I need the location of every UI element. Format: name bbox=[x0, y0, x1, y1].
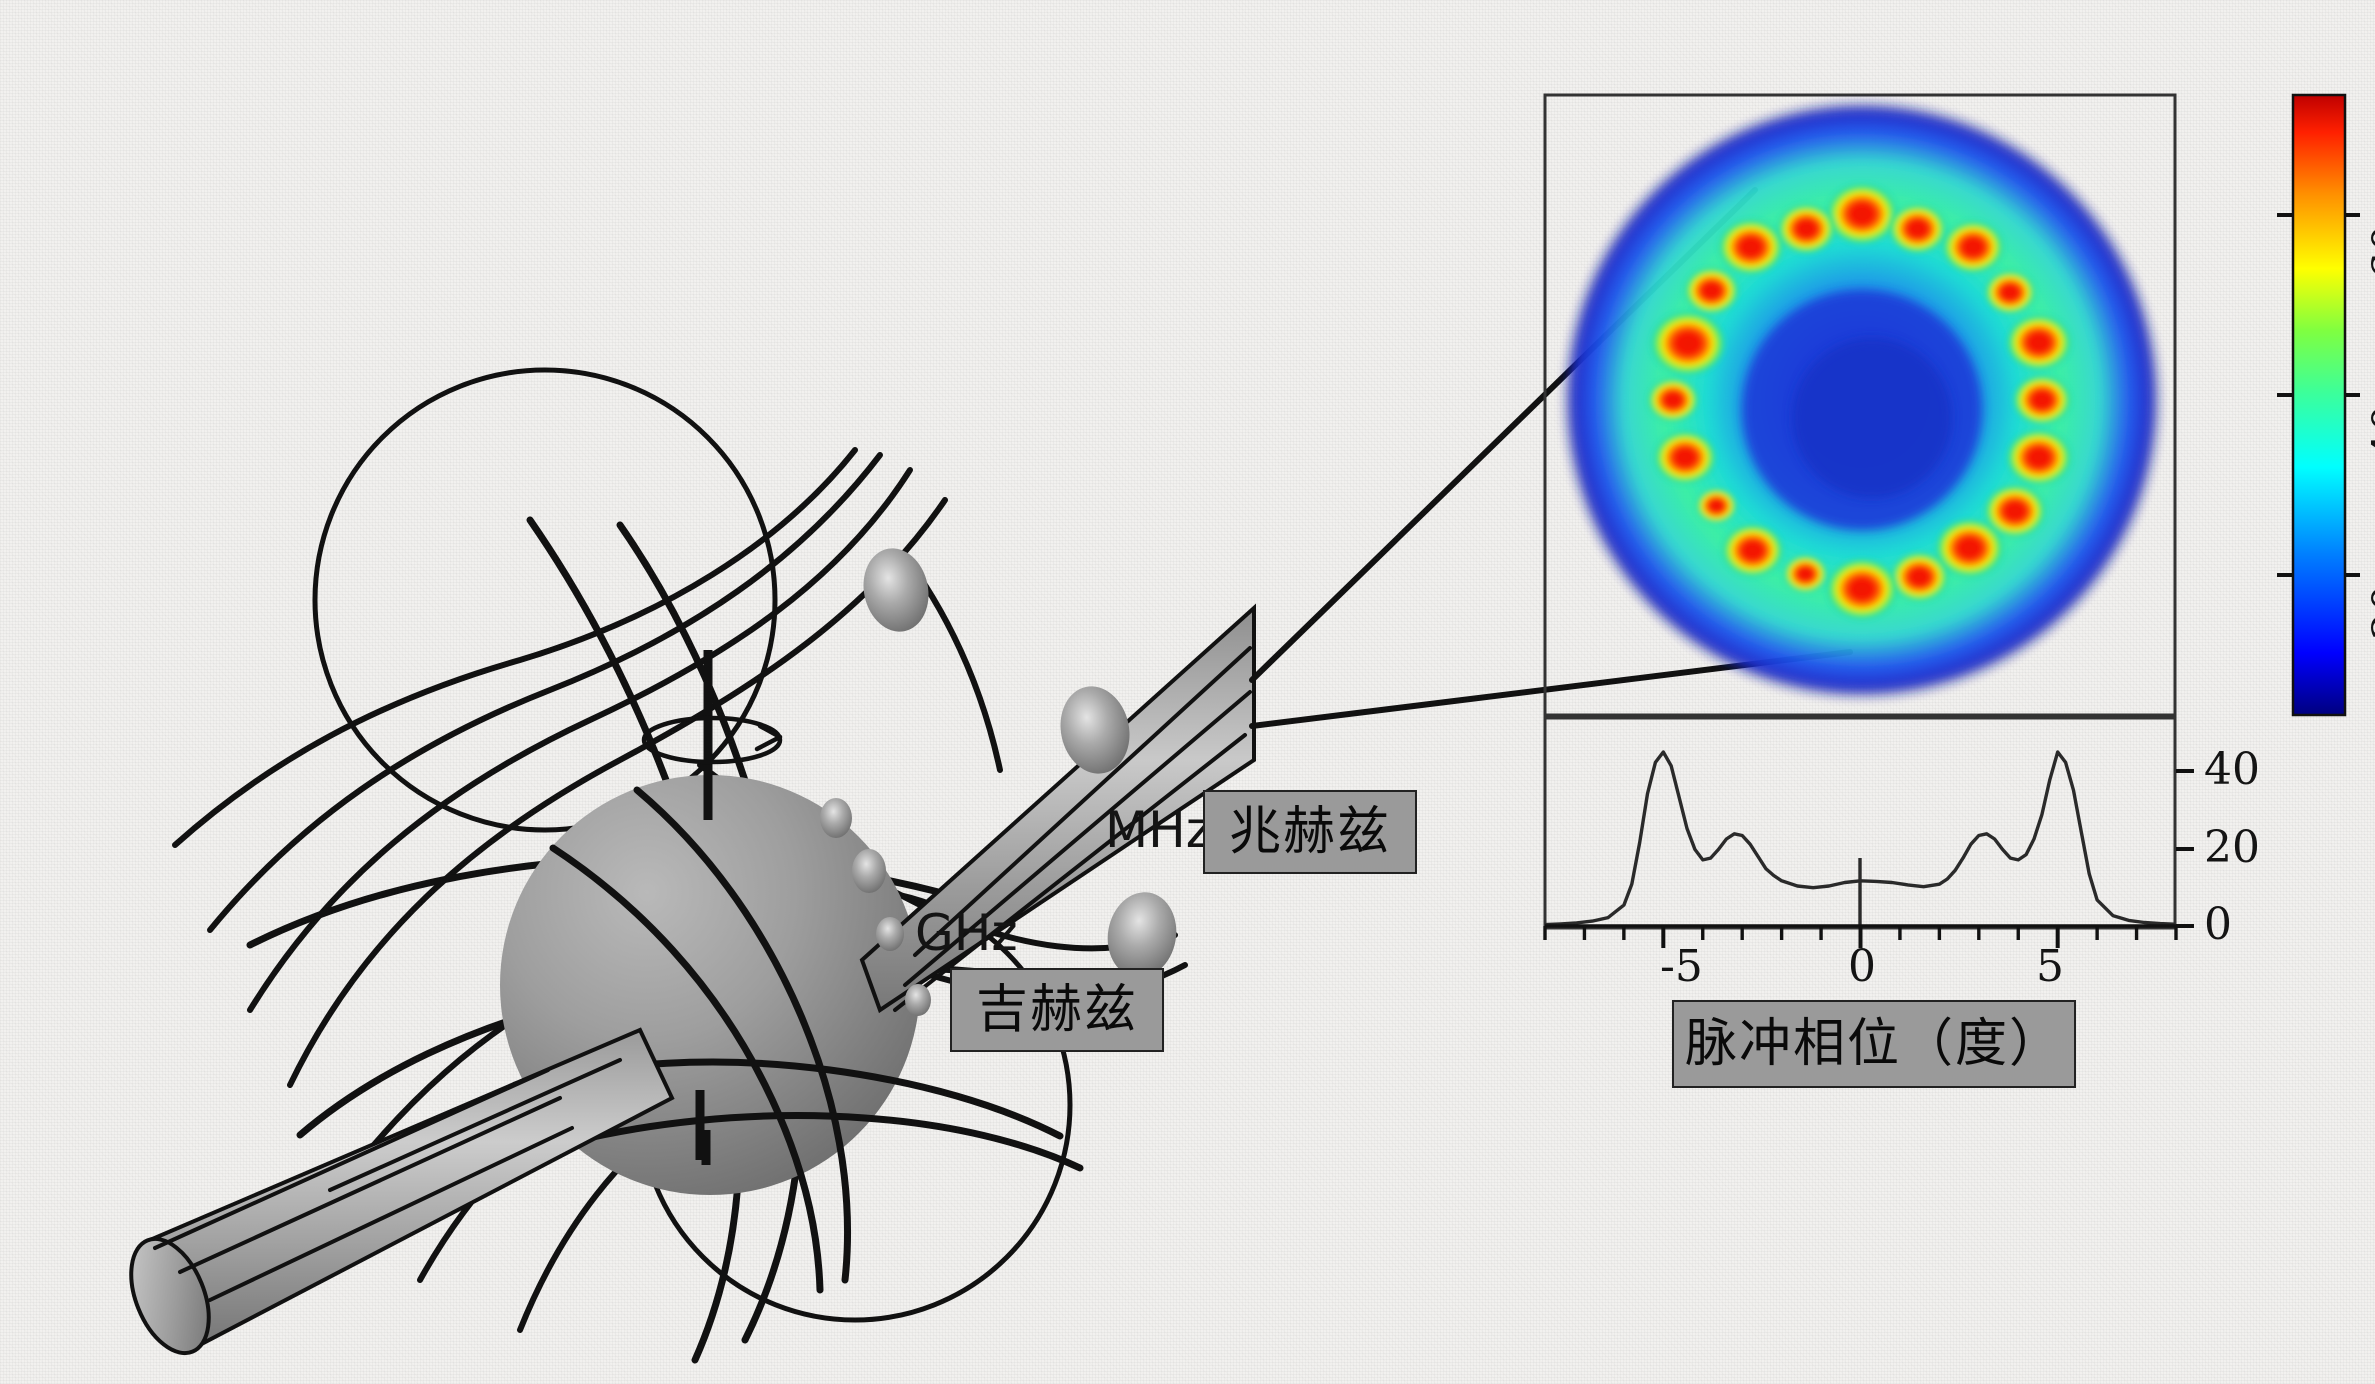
subbeam bbox=[1933, 517, 2005, 579]
colorbar-label-40: 40 bbox=[2368, 404, 2375, 460]
leader-line-top bbox=[1252, 190, 1755, 680]
spark-in-cone bbox=[1053, 680, 1138, 780]
subbeam bbox=[1776, 202, 1838, 255]
subbeam bbox=[1887, 203, 1948, 256]
profile-panel-frame bbox=[1545, 718, 2175, 928]
ytick-label-0: 0 bbox=[2204, 903, 2232, 947]
magnetic-field-lines bbox=[175, 450, 1185, 1330]
colorbar-gradient bbox=[2293, 95, 2345, 715]
subbeam bbox=[1720, 522, 1785, 578]
subbeam bbox=[1824, 182, 1899, 247]
spark-large-upper bbox=[856, 542, 936, 637]
leader-line-bottom bbox=[1252, 652, 1850, 726]
figure-svg bbox=[0, 0, 2375, 1384]
subbeam bbox=[1782, 554, 1829, 595]
subbeam bbox=[1983, 269, 2037, 316]
colorbar-label-20: 20 bbox=[2368, 584, 2375, 640]
spark-small-c bbox=[876, 917, 904, 951]
subbeam bbox=[2005, 313, 2074, 372]
subbeam bbox=[2005, 428, 2074, 487]
spark-small-a bbox=[820, 798, 852, 838]
subbeam bbox=[1889, 550, 1951, 603]
spark-small-d bbox=[905, 984, 931, 1016]
ghz-chinese-label: 吉赫兹 bbox=[950, 968, 1164, 1052]
subbeam bbox=[1683, 266, 1741, 316]
subbeam bbox=[1646, 377, 1700, 424]
subbeam bbox=[1695, 487, 1739, 525]
xtick-label-neg5: -5 bbox=[1660, 945, 1703, 989]
colorbar-ticks bbox=[2277, 215, 2360, 575]
xtick-label-5: 5 bbox=[2036, 945, 2064, 989]
profile-y-axis bbox=[2176, 771, 2194, 926]
spin-direction-arrow bbox=[644, 718, 780, 762]
subbeam bbox=[1717, 218, 1786, 277]
neutron-star bbox=[500, 775, 920, 1195]
xaxis-caption: 脉冲相位（度） bbox=[1672, 1000, 2076, 1088]
subbeam bbox=[1824, 557, 1900, 622]
spark-small-b bbox=[852, 849, 886, 893]
subbeam bbox=[1652, 429, 1718, 485]
figure-canvas: MHz 兆赫兹 GHz 吉赫兹 脉冲相位（度） -5 0 5 0 20 40 2… bbox=[0, 0, 2375, 1384]
subbeam bbox=[1941, 219, 2006, 275]
subbeam bbox=[1648, 309, 1727, 377]
carousel-map bbox=[1562, 100, 2162, 700]
rotation-axis bbox=[700, 650, 708, 1165]
xtick-label-0: 0 bbox=[1848, 945, 1876, 989]
leader-lines bbox=[1252, 190, 1850, 726]
ytick-label-20: 20 bbox=[2204, 826, 2260, 870]
mhz-latin-label: MHz bbox=[1105, 805, 1212, 855]
ytick-label-40: 40 bbox=[2204, 748, 2260, 792]
ghz-latin-label: GHz bbox=[915, 908, 1018, 958]
field-lines-over-star bbox=[250, 520, 1010, 1360]
closed-field-circles bbox=[315, 370, 1070, 1320]
subbeam bbox=[2011, 373, 2073, 426]
mhz-chinese-label: 兆赫兹 bbox=[1203, 790, 1417, 874]
emission-cone-lower bbox=[116, 1030, 672, 1364]
pulse-profile-curve bbox=[1545, 752, 2176, 925]
colorbar-label-60: 60 bbox=[2368, 224, 2375, 280]
carousel-panel-frame bbox=[1545, 95, 2175, 715]
subbeam-group bbox=[1646, 182, 2074, 622]
subbeam bbox=[1982, 483, 2047, 539]
